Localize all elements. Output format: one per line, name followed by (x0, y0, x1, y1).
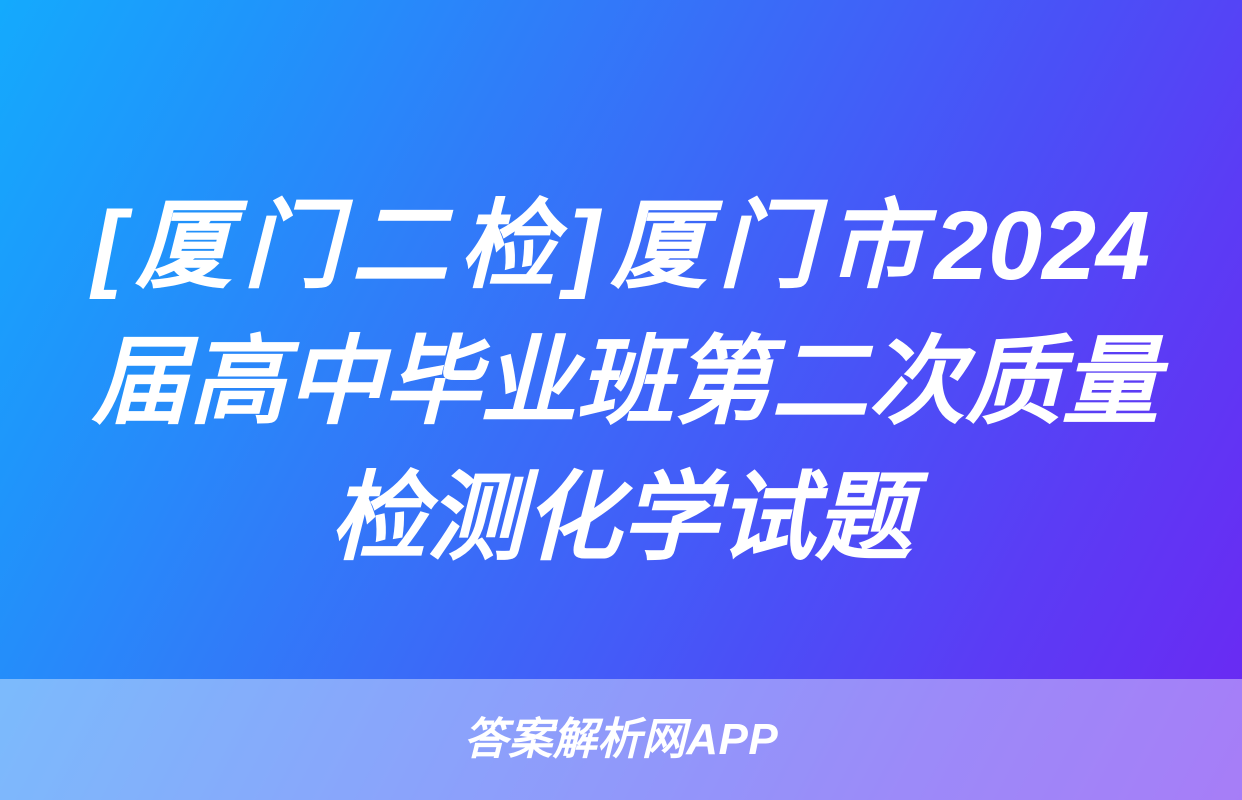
watermark-label: 答案解析网APP (464, 718, 778, 762)
title-line-3: 检测化学试题 (92, 450, 1150, 586)
watermark-band: 答案解析网APP (0, 679, 1242, 800)
page-title: [厦门二检]厦门市2024 届高中毕业班第二次质量 检测化学试题 (0, 178, 1242, 586)
cover-card: [厦门二检]厦门市2024 届高中毕业班第二次质量 检测化学试题 答案解析网AP… (0, 0, 1242, 800)
title-line-1: [厦门二检]厦门市2024 (92, 178, 1150, 314)
title-line-2: 届高中毕业班第二次质量 (92, 314, 1150, 450)
